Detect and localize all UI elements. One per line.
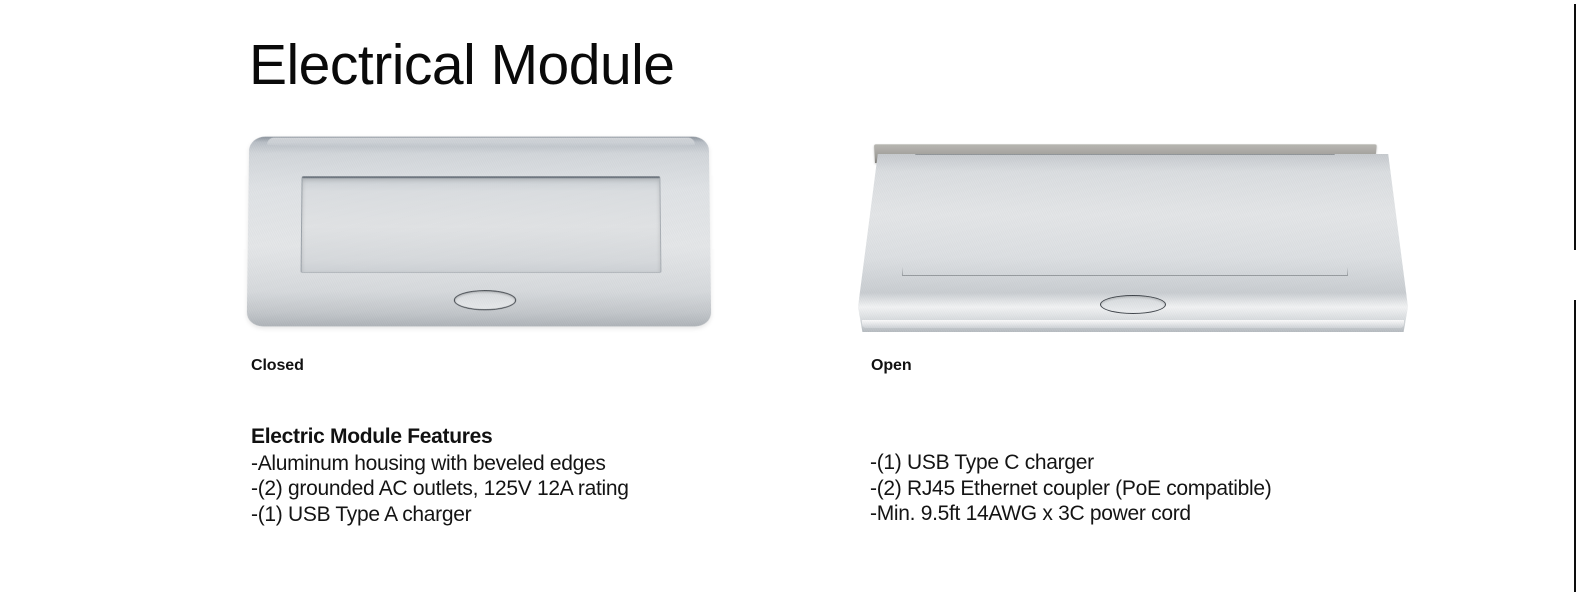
closed-module-top-bevel <box>268 138 696 147</box>
feature-item: -Aluminum housing with beveled edges <box>251 451 629 477</box>
open-module-bezel <box>858 154 1408 332</box>
closed-module-finger-notch <box>453 290 516 310</box>
open-module-finger-notch <box>1100 295 1166 314</box>
slide-page: Electrical Module <box>0 0 1580 598</box>
page-edge-rule-top <box>1574 4 1576 250</box>
feature-item: -(1) USB Type A charger <box>251 502 629 528</box>
features-list-left: -Aluminum housing with beveled edges -(2… <box>251 451 629 528</box>
feature-item: -(2) grounded AC outlets, 125V 12A ratin… <box>251 476 629 502</box>
feature-item: -(2) RJ45 Ethernet coupler (PoE compatib… <box>870 476 1271 502</box>
features-column-right: -(1) USB Type C charger -(2) RJ45 Ethern… <box>870 450 1271 527</box>
open-module-bezel-window <box>902 154 1348 276</box>
features-heading: Electric Module Features <box>251 424 629 450</box>
open-module-image <box>858 140 1408 332</box>
closed-module-housing <box>247 137 712 327</box>
feature-item: -(1) USB Type C charger <box>870 450 1271 476</box>
page-edge-rule-bottom <box>1574 300 1576 592</box>
feature-item: -Min. 9.5ft 14AWG x 3C power cord <box>870 501 1271 527</box>
page-title: Electrical Module <box>249 36 675 96</box>
closed-module-lid-panel <box>300 176 661 273</box>
features-column-left: Electric Module Features -Aluminum housi… <box>251 424 629 527</box>
features-list-right: -(1) USB Type C charger -(2) RJ45 Ethern… <box>870 450 1271 527</box>
closed-module-image <box>248 136 710 326</box>
caption-closed: Closed <box>251 357 304 375</box>
open-module-front-edge <box>862 320 1404 328</box>
caption-open: Open <box>871 357 912 375</box>
